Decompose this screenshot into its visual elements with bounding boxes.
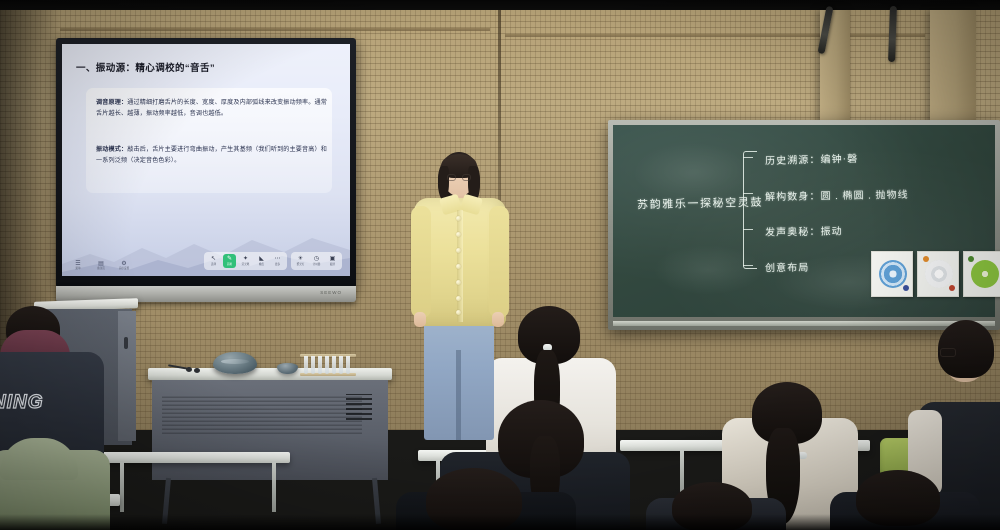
- student-drawing-blue[interactable]: [871, 251, 913, 297]
- student-drawing-white[interactable]: [917, 251, 959, 297]
- wall-rail: [60, 28, 490, 31]
- pointer-icon[interactable]: ↖ 选择: [207, 254, 220, 268]
- tongue-drum[interactable]: [213, 352, 257, 374]
- pen-icon[interactable]: ✎ 画笔: [223, 254, 236, 268]
- demo-table-cabinet: [152, 380, 388, 480]
- blackboard: 苏韵雅乐一探秘空灵鼓 历史溯源：编钟·磬 解构数身：圆 . 椭圆 . 抛物线 发…: [608, 120, 1000, 330]
- drawing-motif-white: [925, 260, 953, 288]
- blackboard-surface: 苏韵雅乐一探秘空灵鼓 历史溯源：编钟·磬 解构数身：圆 . 椭圆 . 抛物线 发…: [613, 125, 995, 317]
- teacher-jeans-seam: [456, 350, 461, 440]
- test-tube: [325, 356, 329, 374]
- test-tube: [318, 356, 322, 374]
- brace-tick: [743, 157, 753, 158]
- brace-tick: [743, 265, 753, 266]
- smartboard-display[interactable]: 一、振动源：精心调校的“音舌” 调音原理：通过精细打磨舌片的长度、宽度、厚度及内…: [56, 38, 356, 288]
- slide-tool-group-draw[interactable]: ↖ 选择 ✎ 画笔 ✦ 荧光笔 ◣ 橡皮: [204, 252, 287, 270]
- blackboard-brace: [743, 151, 757, 269]
- blackboard-outline-item-0: 历史溯源：编钟·磬: [765, 150, 859, 167]
- highlighter-icon[interactable]: ✦ 荧光笔: [239, 254, 252, 268]
- glasses-icon: [940, 348, 956, 357]
- cabinet-vent-grille: [162, 394, 362, 434]
- eraser-icon[interactable]: ◣ 橡皮: [255, 254, 268, 268]
- slide-tool-group-utility[interactable]: ☀ 聚光灯 ◷ 计时器 ▣ 截屏: [291, 252, 342, 270]
- blackboard-outline-item-3: 创意布局: [765, 259, 810, 275]
- more-icon[interactable]: ⋯ 更多: [271, 254, 284, 268]
- teacher-hair-side-left: [438, 166, 449, 200]
- desk-leg: [272, 462, 276, 512]
- mallet-head[interactable]: [186, 367, 192, 372]
- slide-paragraph-1-body: 通过精细打磨舌片的长度、宽度、厚度及内部弧线来改变振动频率。通常舌片越长、越薄，…: [96, 99, 327, 117]
- notes-icon[interactable]: ▤ 备注页: [93, 261, 109, 271]
- slide-paragraph-1-lead: 调音原理：: [96, 99, 127, 106]
- slide-paragraph-1: 调音原理：通过精细打磨舌片的长度、宽度、厚度及内部弧线来改变振动频率。通常舌片越…: [96, 97, 328, 119]
- projection-slide[interactable]: 一、振动源：精心调校的“音舌” 调音原理：通过精细打磨舌片的长度、宽度、厚度及内…: [62, 44, 350, 276]
- brace-tick: [743, 229, 753, 230]
- bottom-letterbox: [0, 514, 1000, 530]
- slide-title: 一、振动源：精心调校的“音舌”: [76, 60, 215, 74]
- drawing-motif-blue: [879, 260, 907, 288]
- test-tube: [339, 356, 343, 374]
- test-tube: [332, 356, 336, 374]
- slide-toolbar-left[interactable]: ☰ 菜单 ▤ 备注页 ⚙ 演示设置: [70, 261, 132, 271]
- pin-icon: [923, 256, 929, 262]
- settings-icon[interactable]: ⚙ 演示设置: [116, 261, 132, 271]
- student-desk: [100, 452, 290, 463]
- blackboard-outline-item-1: 解构数身：圆 . 椭圆 . 抛物线: [765, 186, 909, 204]
- timer-icon[interactable]: ◷ 计时器: [310, 254, 323, 268]
- test-tube: [311, 356, 315, 374]
- teacher-arm-left: [411, 206, 431, 318]
- slide-paragraph-2: 振动模式：敲击后，舌片主要进行弯曲振动，产生其基频（我们听到的主要音高）和一系列…: [96, 144, 328, 166]
- teacher-button-placket: [457, 210, 463, 322]
- pin-icon: [968, 256, 974, 262]
- spotlight-icon[interactable]: ☀ 聚光灯: [294, 254, 307, 268]
- slide-paragraph-2-lead: 振动模式：: [96, 146, 127, 153]
- teacher-arm-right: [489, 206, 509, 318]
- screenshot-icon[interactable]: ▣ 截屏: [326, 254, 339, 268]
- lectern-handle-slot[interactable]: [124, 337, 128, 349]
- teacher-hand-left: [414, 312, 426, 327]
- lectern-side-panel: [118, 311, 136, 441]
- cabinet-vent-grille: [346, 394, 372, 420]
- student-drawing-green[interactable]: [963, 251, 1000, 297]
- test-tube-rack[interactable]: [300, 354, 356, 376]
- slide-toolbar-right[interactable]: ↖ 选择 ✎ 画笔 ✦ 荧光笔 ◣ 橡皮: [204, 252, 342, 270]
- teacher-hand-right: [492, 312, 504, 327]
- mallet-head[interactable]: [194, 368, 200, 373]
- posted-drawings-group: [871, 251, 1000, 297]
- smartboard-brand: SEEWO: [320, 290, 342, 295]
- drum-tongue-slit: [221, 359, 249, 364]
- test-tube: [304, 356, 308, 374]
- menu-icon[interactable]: ☰ 菜单: [70, 261, 86, 271]
- wall-rail: [505, 34, 925, 37]
- brace-tick: [743, 193, 753, 194]
- pin-icon: [903, 285, 909, 291]
- slide-paragraph-2-body: 敲击后，舌片主要进行弯曲振动，产生其基频（我们听到的主要音高）和一系列泛频（决定…: [96, 146, 327, 164]
- glasses-icon: [447, 174, 471, 181]
- test-tube: [346, 356, 350, 374]
- blackboard-outline-item-2: 发声奥秘：振动: [765, 222, 843, 238]
- desk-leg: [120, 462, 124, 512]
- drawing-motif-green: [971, 260, 999, 288]
- chalk-tray: [613, 321, 995, 326]
- jacket-brand-text: NING: [0, 392, 44, 414]
- pin-icon: [949, 285, 955, 291]
- classroom-scene: 一、振动源：精心调校的“音舌” 调音原理：通过精细打磨舌片的长度、宽度、厚度及内…: [0, 0, 1000, 530]
